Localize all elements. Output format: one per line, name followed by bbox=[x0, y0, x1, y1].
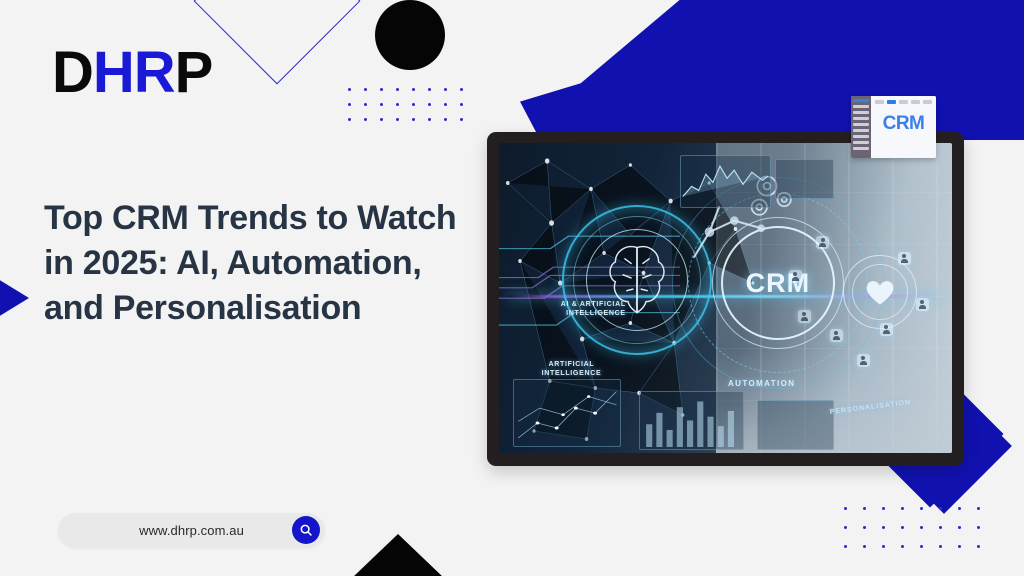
grid-dot bbox=[364, 103, 367, 106]
grid-dot bbox=[901, 526, 904, 529]
logo-letter-p: P bbox=[175, 40, 213, 105]
slide-canvas: DHRP Top CRM Trends to Watch in 2025: AI… bbox=[0, 0, 1024, 576]
grid-dot bbox=[958, 507, 961, 510]
grid-dot bbox=[920, 507, 923, 510]
dot-grid-bottom bbox=[844, 507, 996, 564]
grid-dot bbox=[380, 88, 383, 91]
grid-dot bbox=[882, 545, 885, 548]
grid-dot bbox=[901, 507, 904, 510]
grid-dot bbox=[977, 507, 980, 510]
chevron-outline-shape bbox=[194, 0, 361, 84]
search-icon[interactable] bbox=[292, 516, 320, 544]
grid-dot bbox=[380, 118, 383, 121]
monitor-device: CRM bbox=[487, 132, 964, 466]
user-icon bbox=[816, 236, 829, 249]
black-circle-shape bbox=[375, 0, 445, 70]
website-url-text: www.dhrp.com.au bbox=[139, 523, 244, 538]
grid-dot bbox=[882, 507, 885, 510]
grid-dot bbox=[428, 118, 431, 121]
grid-dot bbox=[396, 88, 399, 91]
dot-grid-top bbox=[348, 88, 476, 133]
grid-dot bbox=[396, 103, 399, 106]
grid-dot bbox=[364, 118, 367, 121]
crm-badge-sidebar bbox=[851, 96, 871, 158]
grid-dot bbox=[844, 507, 847, 510]
user-icon bbox=[857, 354, 870, 367]
grid-dot bbox=[844, 545, 847, 548]
screen-label-ai-secondary: ARTIFICIAL INTELLIGENCE bbox=[522, 360, 622, 379]
grid-dot bbox=[460, 103, 463, 106]
grid-dot bbox=[396, 118, 399, 121]
screen-label-automation: AUTOMATION bbox=[698, 379, 825, 390]
grid-dot bbox=[920, 526, 923, 529]
grid-dot bbox=[444, 118, 447, 121]
grid-dot bbox=[460, 88, 463, 91]
grid-dot bbox=[939, 545, 942, 548]
grid-dot bbox=[958, 545, 961, 548]
logo-letters-hr: HR bbox=[93, 40, 175, 105]
grid-dot bbox=[428, 103, 431, 106]
hud-panel-chart bbox=[680, 155, 771, 208]
crm-badge-tabs bbox=[871, 96, 936, 104]
grid-dot bbox=[939, 507, 942, 510]
grid-dot bbox=[901, 545, 904, 548]
grid-dot bbox=[863, 545, 866, 548]
user-icon bbox=[898, 252, 911, 265]
grid-dot bbox=[977, 545, 980, 548]
hud-panel-network bbox=[513, 379, 622, 447]
grid-dot bbox=[939, 526, 942, 529]
monitor-screen: CRM bbox=[499, 143, 952, 453]
hud-panel-bars bbox=[639, 391, 743, 450]
grid-dot bbox=[920, 545, 923, 548]
grid-dot bbox=[460, 118, 463, 121]
hud-panel-small bbox=[775, 159, 834, 199]
user-icon bbox=[916, 298, 929, 311]
grid-dot bbox=[412, 118, 415, 121]
heart-icon bbox=[843, 255, 917, 329]
black-triangle-bottom-shape bbox=[352, 534, 444, 576]
grid-dot bbox=[844, 526, 847, 529]
blue-triangle-left-shape bbox=[0, 268, 29, 328]
user-icon bbox=[830, 329, 843, 342]
website-url-pill[interactable]: www.dhrp.com.au bbox=[58, 513, 325, 548]
user-icon bbox=[789, 270, 802, 283]
grid-dot bbox=[412, 103, 415, 106]
user-icon bbox=[880, 323, 893, 336]
grid-dot bbox=[863, 507, 866, 510]
grid-dot bbox=[863, 526, 866, 529]
grid-dot bbox=[444, 103, 447, 106]
page-title: Top CRM Trends to Watch in 2025: AI, Aut… bbox=[44, 196, 474, 332]
screen-label-ai-primary: AI & ARTIFICIAL INTELLIGENCE bbox=[508, 300, 626, 319]
grid-dot bbox=[958, 526, 961, 529]
grid-dot bbox=[412, 88, 415, 91]
grid-dot bbox=[348, 103, 351, 106]
grid-dot bbox=[882, 526, 885, 529]
blue-polygon-top-right-shape bbox=[520, 0, 1024, 140]
user-icon bbox=[798, 310, 811, 323]
crm-badge-label: CRM bbox=[871, 113, 936, 135]
crm-badge-body: CRM bbox=[871, 96, 936, 158]
crm-badge-card: CRM bbox=[851, 96, 936, 158]
grid-dot bbox=[977, 526, 980, 529]
grid-dot bbox=[348, 118, 351, 121]
grid-dot bbox=[364, 88, 367, 91]
grid-dot bbox=[348, 88, 351, 91]
dhrp-logo[interactable]: DHRP bbox=[52, 44, 212, 102]
logo-letter-d: D bbox=[52, 40, 93, 105]
grid-dot bbox=[380, 103, 383, 106]
grid-dot bbox=[428, 88, 431, 91]
grid-dot bbox=[444, 88, 447, 91]
